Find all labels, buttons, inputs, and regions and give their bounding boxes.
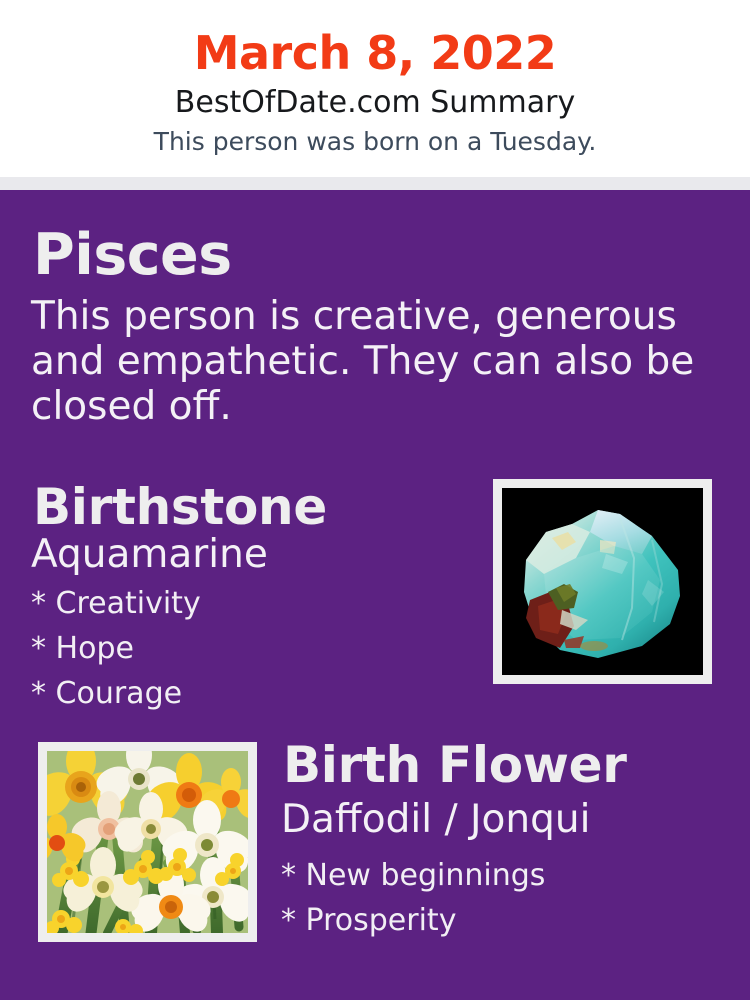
list-item: * New beginnings bbox=[281, 853, 731, 898]
daffodil-flowers-icon bbox=[47, 751, 248, 933]
birth-flower-name: Daffodil / Jonqui bbox=[281, 796, 590, 843]
page-title-date: March 8, 2022 bbox=[0, 25, 750, 81]
birthstone-image bbox=[502, 488, 703, 675]
birth-flower-trait-list: * New beginnings * Prosperity bbox=[281, 853, 731, 943]
list-item: * Creativity bbox=[31, 581, 461, 626]
birth-flower-image-frame bbox=[38, 742, 257, 942]
page-header: March 8, 2022 BestOfDate.com Summary Thi… bbox=[0, 0, 750, 177]
birthstone-trait-list: * Creativity * Hope * Courage bbox=[31, 581, 461, 716]
birthstone-name: Aquamarine bbox=[31, 531, 268, 578]
site-summary-label: BestOfDate.com Summary bbox=[0, 85, 750, 121]
summary-page: March 8, 2022 BestOfDate.com Summary Thi… bbox=[0, 0, 750, 1000]
birth-flower-image bbox=[47, 751, 248, 933]
aquamarine-crystal-icon bbox=[502, 488, 703, 675]
born-day-note: This person was born on a Tuesday. bbox=[0, 126, 750, 157]
list-item: * Prosperity bbox=[281, 898, 731, 943]
birthstone-heading: Birthstone bbox=[33, 478, 327, 536]
zodiac-description: This person is creative, generous and em… bbox=[31, 294, 711, 429]
zodiac-sign-title: Pisces bbox=[33, 222, 232, 288]
list-item: * Hope bbox=[31, 626, 461, 671]
birth-flower-heading: Birth Flower bbox=[283, 736, 627, 794]
header-divider bbox=[0, 177, 750, 190]
list-item: * Courage bbox=[31, 671, 461, 716]
birthstone-image-frame bbox=[493, 479, 712, 684]
